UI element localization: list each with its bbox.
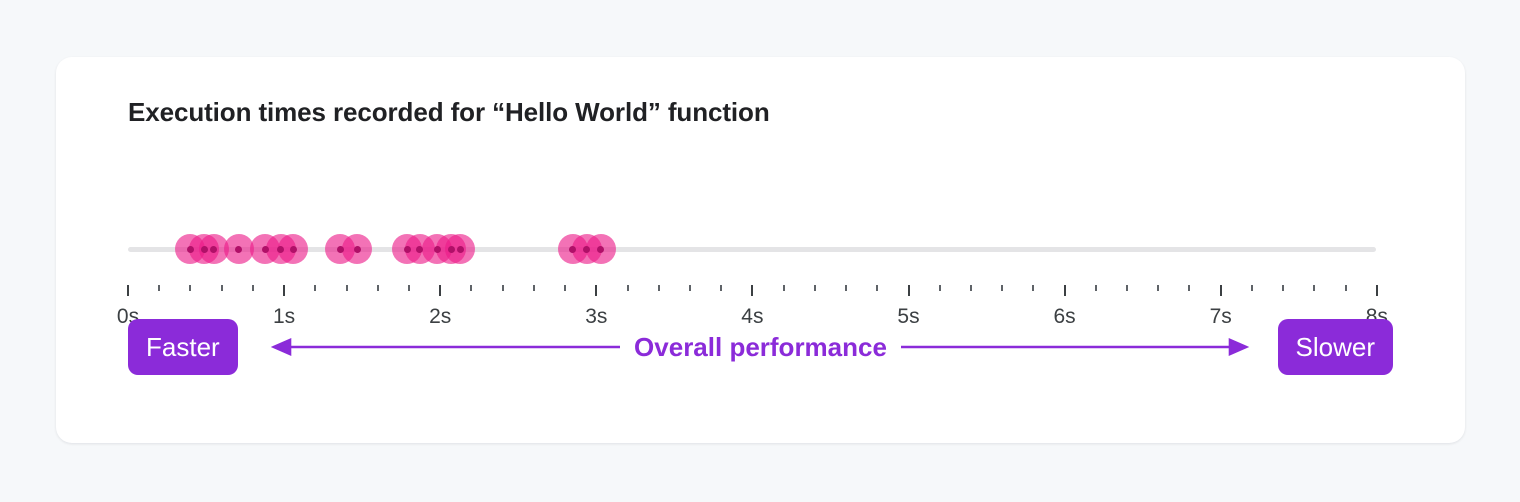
tick-minor <box>876 285 878 291</box>
arrow-right-icon <box>1230 340 1246 354</box>
tick-minor <box>1157 285 1159 291</box>
data-point-center <box>569 246 576 253</box>
slower-label-text: Slower <box>1296 332 1375 363</box>
data-point-center <box>210 246 217 253</box>
data-point-center <box>404 246 411 253</box>
tick-minor <box>1251 285 1253 291</box>
performance-arrows <box>128 319 1393 375</box>
tick-minor <box>720 285 722 291</box>
data-point-center <box>290 246 297 253</box>
tick-major <box>439 285 441 296</box>
tick-minor <box>814 285 816 291</box>
data-point-center <box>337 246 344 253</box>
slower-label-pill[interactable]: Slower <box>1278 319 1393 375</box>
data-point-center <box>187 246 194 253</box>
tick-minor <box>939 285 941 291</box>
tick-minor <box>783 285 785 291</box>
tick-minor <box>1313 285 1315 291</box>
tick-major <box>908 285 910 296</box>
tick-major <box>127 285 129 296</box>
axis-ticks <box>128 285 1378 303</box>
scatter-plot: 0s1s2s3s4s5s6s7s8s <box>128 197 1378 287</box>
data-point-center <box>416 246 423 253</box>
tick-minor <box>1032 285 1034 291</box>
page-root: Execution times recorded for “Hello Worl… <box>0 0 1520 502</box>
data-point-center <box>201 246 208 253</box>
tick-minor <box>533 285 535 291</box>
arrow-left-icon <box>274 340 290 354</box>
data-point-center <box>457 246 464 253</box>
tick-minor <box>1126 285 1128 291</box>
tick-minor <box>158 285 160 291</box>
chart-card: Execution times recorded for “Hello Worl… <box>56 57 1465 443</box>
tick-minor <box>189 285 191 291</box>
tick-minor <box>689 285 691 291</box>
performance-legend: Faster Overall performance Slower <box>128 319 1393 375</box>
data-point-center <box>448 246 455 253</box>
tick-minor <box>470 285 472 291</box>
tick-minor <box>346 285 348 291</box>
tick-minor <box>314 285 316 291</box>
data-point-center <box>583 246 590 253</box>
page-title: Execution times recorded for “Hello Worl… <box>128 97 770 128</box>
tick-minor <box>221 285 223 291</box>
tick-minor <box>564 285 566 291</box>
tick-minor <box>1345 285 1347 291</box>
tick-minor <box>252 285 254 291</box>
tick-minor <box>1001 285 1003 291</box>
data-point-center <box>434 246 441 253</box>
data-point-center <box>262 246 269 253</box>
data-point-center <box>235 246 242 253</box>
tick-minor <box>1188 285 1190 291</box>
tick-minor <box>408 285 410 291</box>
tick-minor <box>627 285 629 291</box>
tick-major <box>595 285 597 296</box>
tick-major <box>751 285 753 296</box>
faster-label-text: Faster <box>146 332 220 363</box>
tick-minor <box>377 285 379 291</box>
tick-minor <box>1095 285 1097 291</box>
tick-minor <box>502 285 504 291</box>
tick-major <box>1376 285 1378 296</box>
data-point-center <box>354 246 361 253</box>
tick-minor <box>1282 285 1284 291</box>
tick-major <box>1064 285 1066 296</box>
tick-minor <box>845 285 847 291</box>
tick-minor <box>970 285 972 291</box>
tick-major <box>1220 285 1222 296</box>
tick-minor <box>658 285 660 291</box>
tick-major <box>283 285 285 296</box>
faster-label-pill[interactable]: Faster <box>128 319 238 375</box>
